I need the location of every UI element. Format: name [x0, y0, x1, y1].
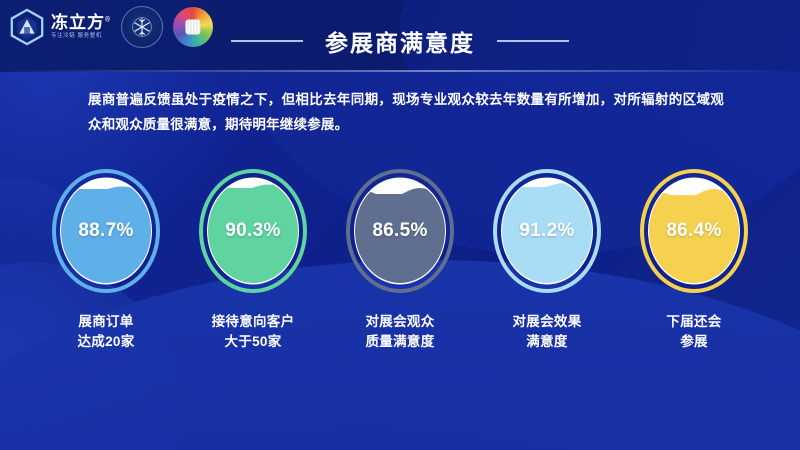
gauge-item[interactable]: 86.4% 下届还会 参展 [638, 168, 750, 351]
gauge-item[interactable]: 91.2% 对展会效果 满意度 [491, 168, 603, 351]
liquid-fill-bulb-icon: 91.2% [493, 168, 601, 294]
liquid-fill-bulb-icon: 90.3% [199, 168, 307, 294]
intro-paragraph: 展商普遍反馈虽处于疫情之下，但相比去年同期，现场专业观众较去年数量有所增加，对所… [88, 88, 724, 138]
registered-mark-icon: ® [105, 17, 111, 24]
gauge-row: 88.7% 展商订单 达成20家 90.3% 接待 [50, 168, 750, 368]
gauge-item[interactable]: 90.3% 接待意向客户 大于50家 [197, 168, 309, 351]
page-title-text: 参展商满意度 [325, 24, 475, 58]
gauge-label: 对展会效果 满意度 [513, 312, 582, 351]
page-title: 参展商满意度 [0, 24, 800, 58]
gauge-label: 接待意向客户 大于50家 [212, 312, 295, 351]
title-rule-left [231, 40, 303, 42]
slide-canvas: 冻立方® 专注冷链 服务整机 参展商满意度 展商普遍反馈虽处于疫情之 [0, 0, 800, 450]
header-divider [0, 70, 800, 72]
gauge-item[interactable]: 88.7% 展商订单 达成20家 [50, 168, 162, 351]
liquid-fill-bulb-icon: 86.5% [346, 168, 454, 294]
gauge-label: 下届还会 参展 [666, 312, 721, 351]
gauge-label: 对展会观众 质量满意度 [366, 312, 435, 351]
gauge-item[interactable]: 86.5% 对展会观众 质量满意度 [344, 168, 456, 351]
liquid-fill-bulb-icon: 88.7% [52, 168, 160, 294]
title-rule-right [497, 40, 569, 42]
gauge-label: 展商订单 达成20家 [77, 312, 134, 351]
liquid-fill-bulb-icon: 86.4% [640, 168, 748, 294]
